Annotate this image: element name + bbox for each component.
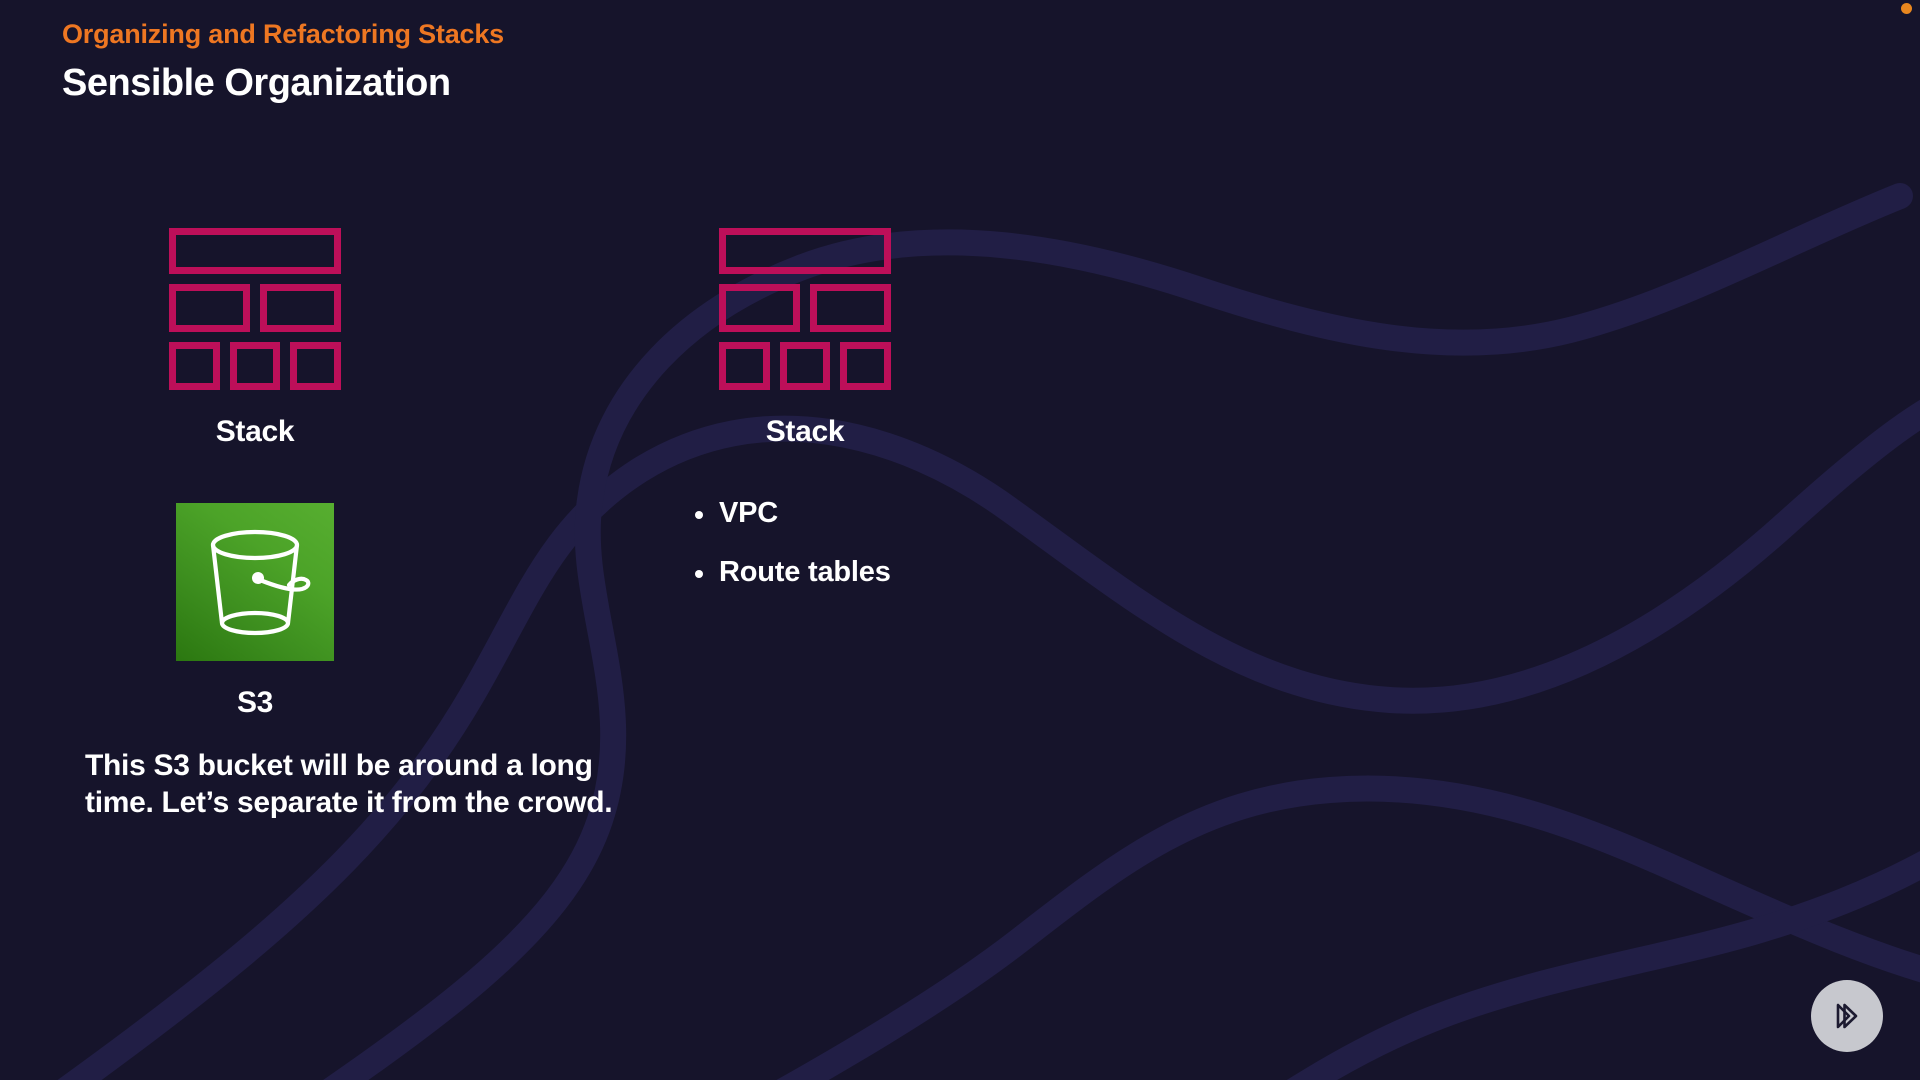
stack-row-middle [719,284,891,332]
s3-caption: S3 [105,686,405,720]
play-forward-button[interactable] [1811,980,1883,1052]
slide-canvas: Organizing and Refactoring Stacks Sensib… [0,0,1920,1080]
page-title: Sensible Organization [62,61,504,107]
bullet-dot-icon [695,570,703,578]
left-column: Stack [105,228,665,821]
left-stack-caption: Stack [105,415,405,449]
stack-row-bottom [169,342,341,390]
recording-indicator-dot [1901,3,1912,14]
s3-icon-wrap [105,503,405,661]
bullet-dot-icon [695,511,703,519]
stack-box [290,342,341,390]
stack-row-top [719,228,891,274]
stack-row-top [169,228,341,274]
s3-block: S3 This S3 bucket will be around a long … [105,503,665,821]
s3-bucket-icon [176,503,334,661]
list-item: VPC [695,499,1355,528]
stack-contents-list: VPC Route tables [655,499,1355,587]
right-column: Stack VPC Route tables [655,228,1355,587]
right-stack-icon-wrap [655,228,955,390]
stack-box [719,228,891,274]
stack-box [840,342,891,390]
stack-box [719,284,800,332]
s3-description-paragraph: This S3 bucket will be around a long tim… [85,748,665,821]
list-item-label: Route tables [719,556,891,588]
stack-box [169,228,341,274]
slide-header: Organizing and Refactoring Stacks Sensib… [62,18,504,107]
stack-box [169,284,250,332]
stack-box [260,284,341,332]
stack-box [230,342,281,390]
stack-icon [169,228,341,390]
section-kicker: Organizing and Refactoring Stacks [62,18,504,50]
stack-row-middle [169,284,341,332]
list-item-label: VPC [719,497,778,529]
list-item: Route tables [695,558,1355,587]
stack-icon [719,228,891,390]
stack-box [810,284,891,332]
stack-box [780,342,831,390]
left-stack-icon-wrap [105,228,405,390]
stack-box [719,342,770,390]
stack-row-bottom [719,342,891,390]
right-stack-caption: Stack [655,415,955,449]
stack-box [169,342,220,390]
